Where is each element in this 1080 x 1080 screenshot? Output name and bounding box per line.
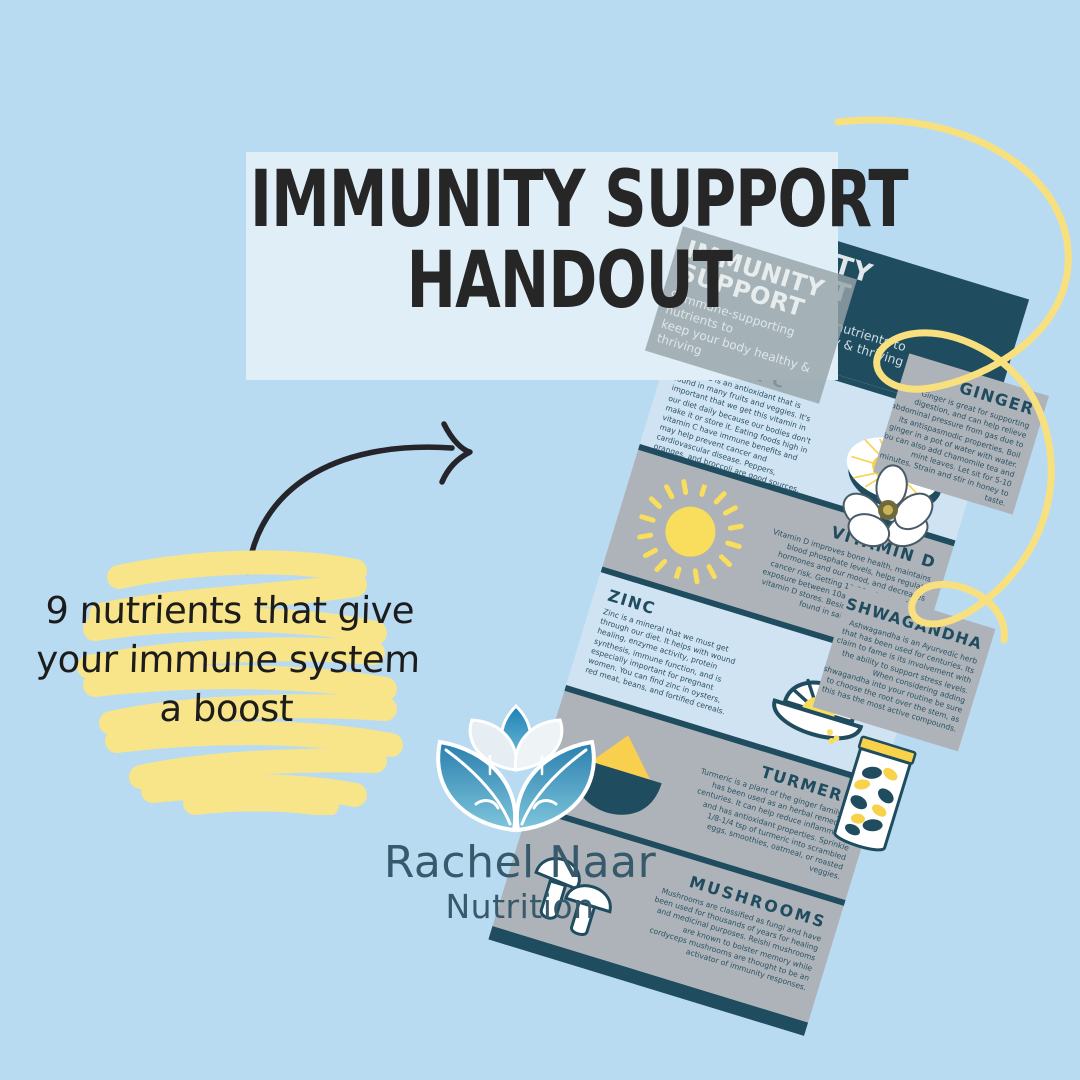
page-title-line2: HANDOUT xyxy=(250,241,737,322)
tagline-line3: a boost xyxy=(15,684,437,733)
tagline-line1: 9 nutrients that give xyxy=(19,586,441,635)
sun-icon xyxy=(623,468,759,594)
page-title-line1: IMMUNITY SUPPORT xyxy=(250,160,737,241)
lotus-leaf-logo xyxy=(416,700,616,840)
brand-name: Rachel Naar Nutrition xyxy=(350,840,690,927)
brand-subtitle: Nutrition xyxy=(350,886,690,927)
tagline: 9 nutrients that give your immune system… xyxy=(15,586,440,734)
tagline-line2: your immune system xyxy=(17,635,439,684)
page-title: IMMUNITY SUPPORT HANDOUT xyxy=(250,160,737,322)
brand-title: Rachel Naar xyxy=(350,840,690,886)
poster-canvas: IMMUNITY SUPPORT 9 immune-supporting nut… xyxy=(0,0,1080,1080)
